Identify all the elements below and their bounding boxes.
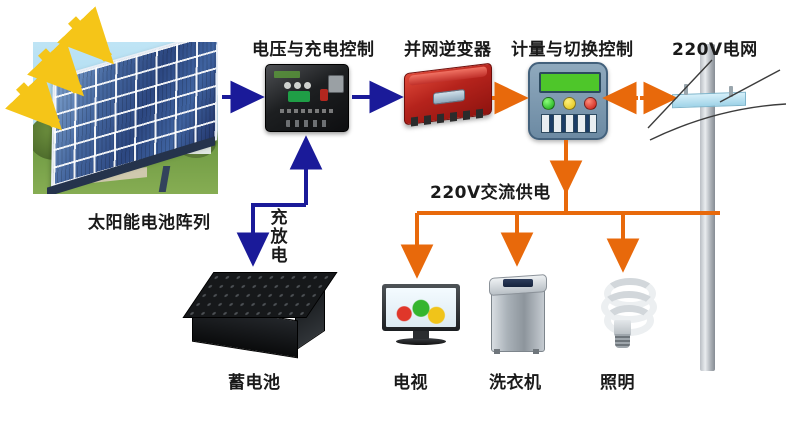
controller-port-strip [286,120,330,127]
pv-panel-support-leg [159,166,171,192]
cfl-lamp-appliance [592,276,654,354]
solar-system-diagram: 太阳能电池阵列 电压与充电控制 并网逆变器 计量与切换控制 220V电网 220… [0,0,792,433]
controller-knob-1 [284,82,291,89]
meter-lcd-screen [539,72,601,93]
pole-insulator-right [729,86,733,97]
metering-switch-device [528,62,608,140]
battery-bank [190,272,328,354]
meter-breaker-switches [541,114,597,133]
label-television: 电视 [393,368,428,393]
washer-foot-right [533,349,539,354]
label-charge-control: 电压与充电控制 [252,35,375,60]
inverter-connectors [411,109,483,127]
tv-neck [413,331,429,339]
controller-knob-2 [294,82,301,89]
label-ac-supply: 220V交流供电 [430,178,551,203]
washing-machine-appliance [487,272,547,354]
label-solar-array: 太阳能电池阵列 [88,208,211,233]
grid-inverter-device [404,63,492,126]
washer-control-panel [503,279,533,287]
controller-red-terminal [320,89,328,101]
inverter-display-window [433,89,465,105]
label-grid-inverter: 并网逆变器 [404,35,492,60]
solar-array-photo [33,42,218,194]
controller-knob-3 [304,82,311,89]
tv-screen [386,288,456,327]
controller-display [274,71,300,78]
pole-insulator-left [684,84,688,95]
meter-led-red [584,97,597,110]
controller-brand-text [280,109,334,113]
label-metering-switch: 计量与切换控制 [511,35,634,60]
meter-led-green [542,97,555,110]
label-washing-machine: 洗衣机 [489,368,542,393]
label-battery: 蓄电池 [228,368,281,393]
tv-base [396,338,446,345]
tv-bezel [382,284,460,331]
controller-green-terminal [288,91,310,102]
bulb-screw-thread [615,334,630,348]
label-grid-220v: 220V电网 [672,35,758,60]
meter-led-yellow [563,97,576,110]
label-charge-discharge: 充放电 [270,209,288,266]
charge-controller-device [265,64,349,132]
inverter-top-face [409,66,487,86]
washer-foot-left [494,349,500,354]
label-lighting: 照明 [600,368,635,393]
television-appliance [382,284,460,350]
controller-side-module [328,75,344,93]
